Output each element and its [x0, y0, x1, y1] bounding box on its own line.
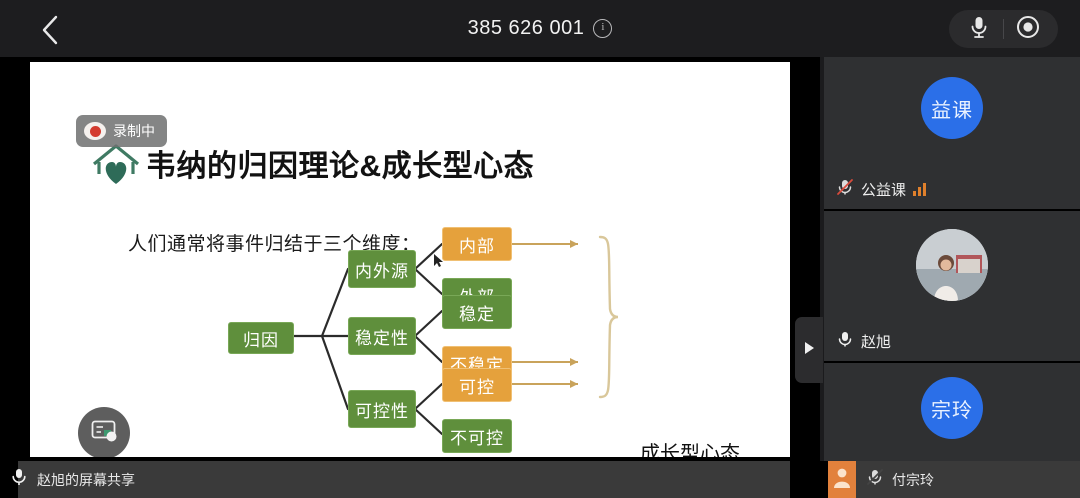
diagram-node-leaf-0-0: 内部: [442, 227, 512, 261]
attribution-diagram: 归因 内外源 稳定性 可控性 内部 外部 稳定 不稳定 可控 不可控 成长型心态: [60, 119, 790, 457]
participant-name: 公益课: [861, 179, 906, 200]
camera-record-icon: [1016, 15, 1040, 44]
top-bar: 385 626 001 i: [0, 0, 1080, 57]
expand-panel-button[interactable]: [795, 317, 823, 383]
participant-tile[interactable]: 益课 公益课: [824, 57, 1080, 209]
signal-bars-icon: [913, 183, 926, 196]
info-icon[interactable]: i: [593, 19, 612, 38]
meeting-id-group: 385 626 001 i: [0, 0, 1080, 57]
meeting-id-text: 385 626 001: [468, 17, 585, 40]
screen-share-stage: 录制中 韦纳的归因理论&成长型心态 人们通常将事件归结于三个维度：: [0, 57, 820, 461]
avatar: 宗玲: [921, 377, 983, 439]
avatar: 益课: [921, 77, 983, 139]
mic-muted-icon: [836, 178, 854, 201]
camera-button[interactable]: [1004, 10, 1052, 48]
share-status-group: 赵旭的屏幕共享: [10, 461, 135, 498]
top-bar-controls: [949, 10, 1058, 48]
bottom-bar-speaker-name: 付宗玲: [892, 470, 934, 490]
diagram-node-leaf-2-0: 可控: [442, 368, 512, 402]
participant-name-row: 公益课: [836, 178, 926, 201]
shared-slide[interactable]: 录制中 韦纳的归因理论&成长型心态 人们通常将事件归结于三个维度：: [30, 62, 790, 457]
participant-tile[interactable]: 宗玲: [824, 361, 1080, 463]
mic-muted-icon: [866, 468, 884, 491]
share-status-text: 赵旭的屏幕共享: [37, 470, 135, 490]
play-triangle-icon: [803, 341, 815, 360]
chevron-left-icon: [41, 15, 59, 45]
bottom-bar-speaker-group: 付宗玲: [866, 461, 934, 498]
diagram-node-leaf-1-0: 稳定: [442, 295, 512, 329]
microphone-icon: [969, 15, 989, 44]
bottom-bar-gap: [790, 461, 828, 498]
participant-panel: 益课 公益课: [824, 57, 1080, 461]
avatar: [916, 229, 988, 301]
mic-on-icon: [836, 330, 854, 353]
diagram-node-root: 归因: [228, 322, 294, 354]
diagram-node-leaf-2-1: 不可控: [442, 419, 512, 453]
diagram-outcome-label: 成长型心态: [640, 437, 740, 457]
mic-on-icon: [10, 467, 28, 492]
back-button[interactable]: [30, 10, 70, 50]
person-badge[interactable]: [828, 461, 856, 498]
mic-button[interactable]: [955, 10, 1003, 48]
participant-name-row: 赵旭: [836, 330, 891, 353]
diagram-node-branch-1: 稳定性: [348, 317, 416, 355]
diagram-node-branch-2: 可控性: [348, 390, 416, 428]
person-icon: [832, 466, 852, 493]
diagram-node-branch-0: 内外源: [348, 250, 416, 288]
participant-name: 赵旭: [861, 331, 891, 352]
participant-tile[interactable]: 赵旭: [824, 209, 1080, 361]
meeting-app-window: 385 626 001 i: [0, 0, 1080, 498]
